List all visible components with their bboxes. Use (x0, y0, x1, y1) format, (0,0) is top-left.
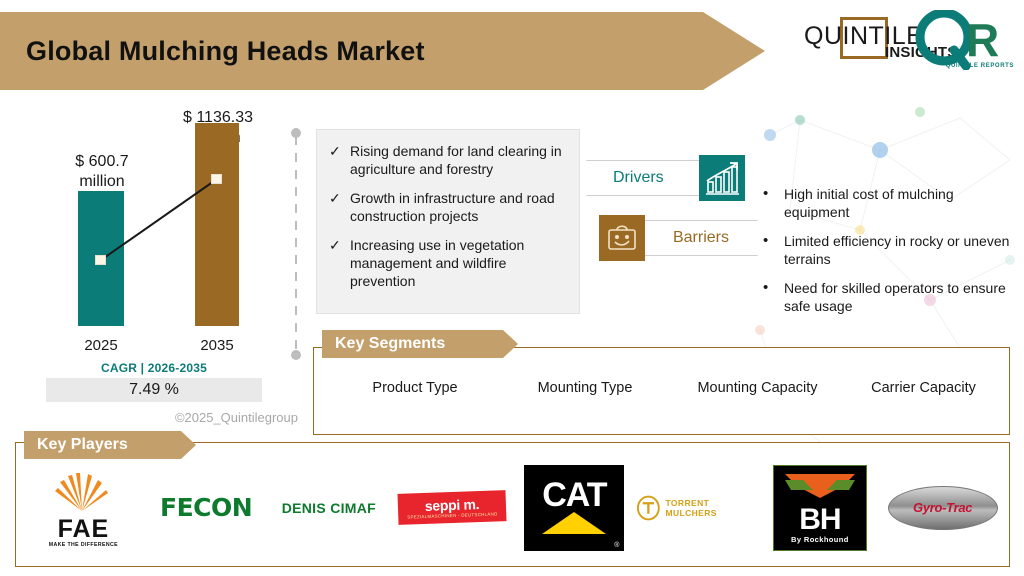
barrier-item-text: High initial cost of mulching equipment (784, 185, 1015, 221)
logo-mark-sub: QUINTILE REPORTS (946, 63, 1014, 69)
brand-logo: QUINTILE INSIGHTS R QUINTILE REPORTS (800, 8, 1018, 74)
segment-item-mounting-capacity[interactable]: Mounting Capacity (670, 380, 845, 396)
bh-chevron-icon (783, 472, 857, 502)
player-logo-cat[interactable]: CAT ® (513, 455, 636, 560)
torrent-emblem-icon (636, 495, 661, 521)
key-players-list: FAE MAKE THE DIFFERENCE FECON DENIS CIMA… (22, 455, 1004, 560)
player-logo-fecon[interactable]: FECON (145, 455, 268, 560)
torrent-name: TORRENT MULCHERS (665, 498, 758, 518)
denis-cimaf-name: DENIS CIMAF (282, 500, 376, 516)
blocked-sign-icon (599, 215, 645, 261)
qr-monogram-icon: R (914, 10, 1016, 70)
driver-item-text: Growth in infrastructure and road constr… (350, 189, 565, 225)
barrier-item: • High initial cost of mulching equipmen… (763, 185, 1015, 221)
barriers-banner-label: Barriers (673, 229, 729, 247)
bullet-icon: • (763, 232, 775, 268)
drivers-panel: ✓ Rising demand for land clearing in agr… (316, 129, 580, 314)
axis-label-2025: 2025 (71, 337, 131, 354)
key-players-label: Key Players (37, 436, 128, 454)
svg-text:R: R (966, 14, 999, 66)
cat-registered-mark: ® (614, 542, 619, 549)
market-size-chart: $ 600.7 million $ 1136.33 million 2025 2… (30, 100, 278, 360)
player-logo-fae[interactable]: FAE MAKE THE DIFFERENCE (22, 455, 145, 560)
barrier-item: • Limited efficiency in rocky or uneven … (763, 232, 1015, 268)
cat-triangle-icon (540, 510, 608, 536)
cagr-value: 7.49 % (46, 378, 262, 402)
vertical-divider (291, 128, 301, 360)
axis-label-2035: 2035 (187, 337, 247, 354)
key-segments-list: Product Type Mounting Type Mounting Capa… (330, 380, 1002, 396)
infographic-page: Global Mulching Heads Market QUINTILE IN… (0, 0, 1024, 576)
player-logo-bh-rockhound[interactable]: BH By Rockhound (759, 455, 882, 560)
barriers-list: • High initial cost of mulching equipmen… (763, 185, 1015, 326)
player-logo-denis-cimaf[interactable]: DENIS CIMAF (268, 455, 391, 560)
bullet-icon: • (763, 185, 775, 221)
growth-chart-icon (699, 155, 745, 201)
trend-marker-2025 (95, 255, 106, 265)
player-logo-seppi[interactable]: seppi m. SPEZIALMASCHINEN - DEUTSCHLAND (390, 455, 513, 560)
key-segments-label: Key Segments (335, 335, 445, 353)
fae-rays-icon (46, 467, 120, 511)
bh-name: BH (799, 505, 840, 535)
fae-tagline: MAKE THE DIFFERENCE (40, 542, 126, 548)
bullet-icon: • (763, 279, 775, 315)
cat-name: CAT (542, 480, 606, 510)
player-logo-torrent-mulchers[interactable]: TORRENT MULCHERS (636, 455, 759, 560)
gyro-trac-name: Gyro-Trac (913, 500, 972, 515)
trend-marker-2035 (211, 174, 222, 184)
check-icon: ✓ (329, 142, 341, 178)
check-icon: ✓ (329, 236, 341, 290)
header-banner: Global Mulching Heads Market (0, 12, 765, 90)
drivers-banner-label: Drivers (613, 169, 664, 187)
driver-item: ✓ Rising demand for land clearing in agr… (329, 142, 565, 178)
segment-item-mounting-type[interactable]: Mounting Type (500, 380, 670, 396)
copyright-text: ©2025_Quintilegroup (30, 410, 298, 425)
check-icon: ✓ (329, 189, 341, 225)
driver-item-text: Increasing use in vegetation management … (350, 236, 565, 290)
driver-item-text: Rising demand for land clearing in agric… (350, 142, 565, 178)
trend-line (30, 100, 278, 360)
cagr-label: CAGR | 2026-2035 (30, 361, 278, 375)
key-segments-banner: Key Segments (322, 330, 518, 358)
page-title: Global Mulching Heads Market (26, 36, 425, 67)
barrier-item-text: Limited efficiency in rocky or uneven te… (784, 232, 1015, 268)
player-logo-gyro-trac[interactable]: Gyro-Trac (881, 455, 1004, 560)
fae-name: FAE (40, 516, 126, 542)
barrier-item-text: Need for skilled operators to ensure saf… (784, 279, 1015, 315)
segment-item-product-type[interactable]: Product Type (330, 380, 500, 396)
segment-item-carrier-capacity[interactable]: Carrier Capacity (845, 380, 1002, 396)
driver-item: ✓ Increasing use in vegetation managemen… (329, 236, 565, 290)
driver-item: ✓ Growth in infrastructure and road cons… (329, 189, 565, 225)
bh-tagline: By Rockhound (791, 535, 849, 544)
fecon-name: FECON (160, 493, 252, 522)
barrier-item: • Need for skilled operators to ensure s… (763, 279, 1015, 315)
